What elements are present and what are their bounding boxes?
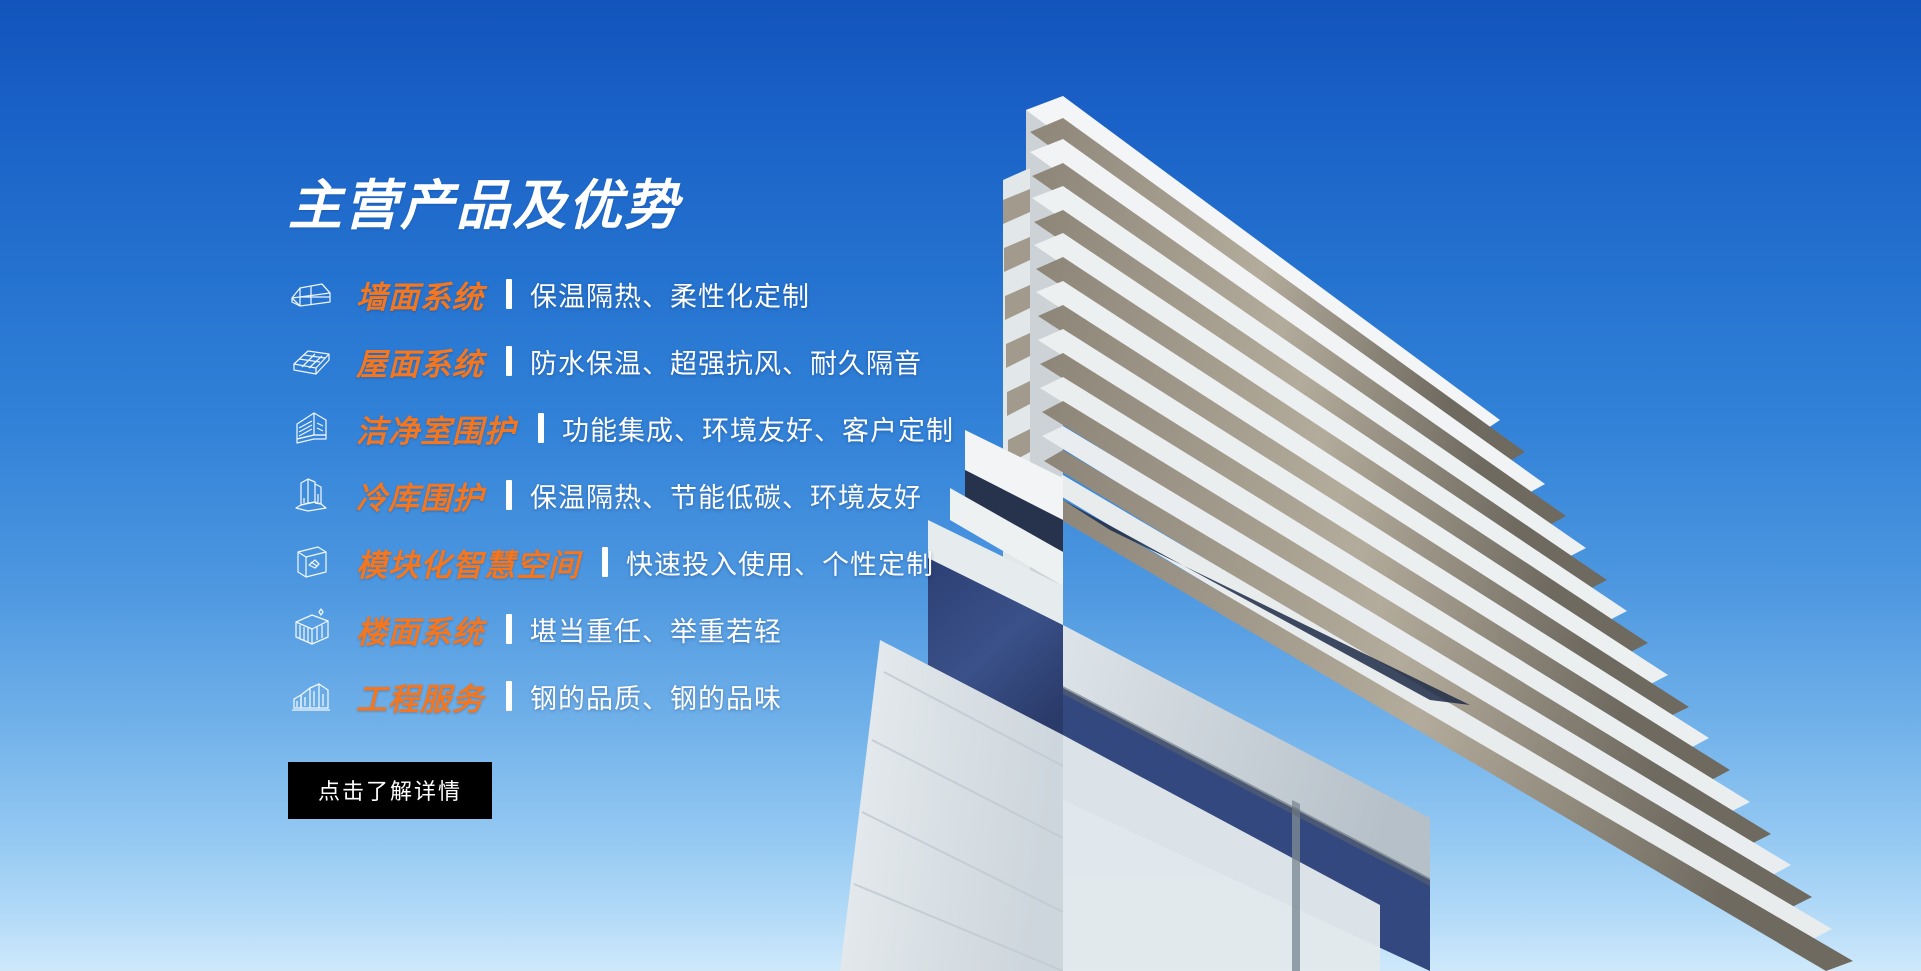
product-desc: 堪当重任、举重若轻 <box>530 610 782 649</box>
product-desc: 快速投入使用、个性定制 <box>626 543 934 582</box>
product-desc: 功能集成、环境友好、客户定制 <box>562 409 954 448</box>
wall-system-icon <box>288 271 334 317</box>
separator-bar <box>506 279 512 309</box>
product-name: 洁净室围护 <box>356 406 516 451</box>
hero-banner: 主营产品及优势 墙面系统 保温隔热、柔性化定制 <box>0 0 1921 971</box>
product-desc: 防水保温、超强抗风、耐久隔音 <box>530 342 922 381</box>
separator-bar <box>506 480 512 510</box>
cold-storage-icon <box>288 472 334 518</box>
list-item[interactable]: 模块化智慧空间 快速投入使用、个性定制 <box>288 529 1288 596</box>
modular-space-icon <box>288 539 334 585</box>
product-desc: 保温隔热、节能低碳、环境友好 <box>530 476 922 515</box>
learn-more-button[interactable]: 点击了解详情 <box>288 762 492 819</box>
separator-bar <box>506 681 512 711</box>
product-desc: 保温隔热、柔性化定制 <box>530 275 810 314</box>
product-name: 模块化智慧空间 <box>356 540 580 585</box>
engineering-service-icon <box>288 673 334 719</box>
list-item[interactable]: 楼面系统 堪当重任、举重若轻 <box>288 596 1288 663</box>
product-name: 工程服务 <box>356 674 484 719</box>
product-name: 墙面系统 <box>356 272 484 317</box>
hero-content: 主营产品及优势 墙面系统 保温隔热、柔性化定制 <box>288 178 1288 819</box>
list-item[interactable]: 冷库围护 保温隔热、节能低碳、环境友好 <box>288 462 1288 529</box>
separator-bar <box>506 346 512 376</box>
page-title: 主营产品及优势 <box>288 178 1288 235</box>
roof-system-icon <box>288 338 334 384</box>
floor-system-icon <box>288 606 334 652</box>
product-name: 楼面系统 <box>356 607 484 652</box>
product-name: 冷库围护 <box>356 473 484 518</box>
list-item[interactable]: 洁净室围护 功能集成、环境友好、客户定制 <box>288 395 1288 462</box>
separator-bar <box>602 547 608 577</box>
separator-bar <box>506 614 512 644</box>
product-name: 屋面系统 <box>356 339 484 384</box>
cleanroom-icon <box>288 405 334 451</box>
list-item[interactable]: 墙面系统 保温隔热、柔性化定制 <box>288 261 1288 328</box>
product-desc: 钢的品质、钢的品味 <box>530 677 782 716</box>
separator-bar <box>538 413 544 443</box>
list-item[interactable]: 屋面系统 防水保温、超强抗风、耐久隔音 <box>288 328 1288 395</box>
list-item[interactable]: 工程服务 钢的品质、钢的品味 <box>288 663 1288 730</box>
product-list: 墙面系统 保温隔热、柔性化定制 屋面系统 <box>288 261 1288 730</box>
